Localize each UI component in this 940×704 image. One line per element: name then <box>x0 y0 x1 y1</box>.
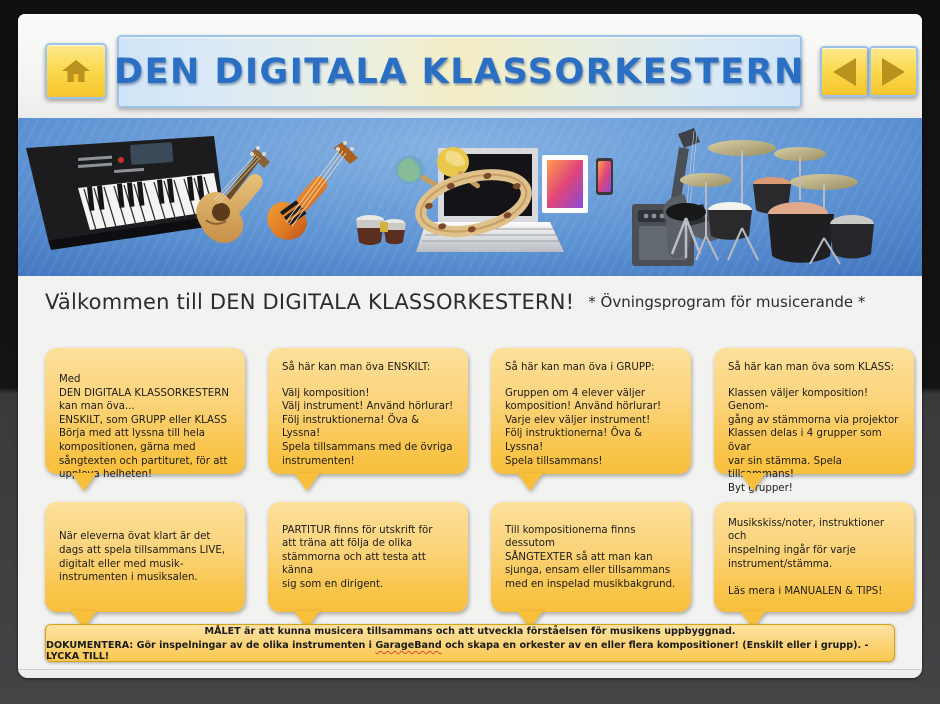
page-surface: DEN DIGITALA KLASSORKESTERN <box>18 14 922 678</box>
bubble-intro: Med DEN DIGITALA KLASSORKESTERN kan man … <box>45 348 245 474</box>
keyboard-photo <box>26 136 226 250</box>
triangle-right-icon <box>882 58 905 86</box>
page-title: DEN DIGITALA KLASSORKESTERN <box>114 52 805 92</box>
welcome-subtitle: * Övningsprogram för musicerande * <box>588 293 865 311</box>
goal-line-2-pre: DOKUMENTERA: Gör inspelningar av de olik… <box>46 640 375 651</box>
bubble-body: Med DEN DIGITALA KLASSORKESTERN kan man … <box>59 373 233 482</box>
goal-line-2: DOKUMENTERA: Gör inspelningar av de olik… <box>46 640 894 662</box>
bubble-heading: Så här kan man öva i GRUPP: <box>505 361 679 375</box>
previous-button[interactable] <box>820 46 869 97</box>
garageband-mention: GarageBand <box>375 640 441 651</box>
welcome-title: Välkommen till DEN DIGITALA KLASSORKESTE… <box>45 290 574 314</box>
bubble-body: Till kompositionerna finns dessutom SÅNG… <box>505 524 679 592</box>
bubble-manual: Musikskiss/noter, instruktioner och insp… <box>714 502 914 612</box>
footer-bar: Art.nr.: 99666 DEN DIGITALA KLASSORKESTE… <box>18 669 922 678</box>
bubble-partitur: PARTITUR finns för utskrift för att trän… <box>268 502 468 612</box>
next-button[interactable] <box>869 46 918 97</box>
goal-line-1: MÅLET är att kunna musicera tillsammans … <box>205 626 736 637</box>
welcome-row: Välkommen till DEN DIGITALA KLASSORKESTE… <box>18 276 922 328</box>
phone-photo <box>596 158 613 195</box>
bongo-drums-photo <box>356 215 406 245</box>
application-frame: DEN DIGITALA KLASSORKESTERN <box>0 0 940 704</box>
header-bar: DEN DIGITALA KLASSORKESTERN <box>18 14 922 118</box>
bubble-klass: Så här kan man öva som KLASS: Klassen vä… <box>714 348 914 474</box>
instrument-illustrations <box>18 118 922 276</box>
tablet-photo <box>542 155 588 213</box>
goal-banner: MÅLET är att kunna musicera tillsammans … <box>45 624 895 662</box>
bubble-grupp: Så här kan man öva i GRUPP: Gruppen om 4… <box>491 348 691 474</box>
bubble-body: Gruppen om 4 elever väljer komposition! … <box>505 387 679 469</box>
bubble-body: PARTITUR finns för utskrift för att trän… <box>282 524 456 592</box>
drum-kit-photo <box>666 140 874 264</box>
bubble-tail <box>517 473 543 491</box>
bubble-enskilt: Så här kan man öva ENSKILT: Välj komposi… <box>268 348 468 474</box>
info-bubble-grid: Med DEN DIGITALA KLASSORKESTERN kan man … <box>18 326 922 622</box>
triangle-left-icon <box>833 58 856 86</box>
bubble-sangtexter: Till kompositionerna finns dessutom SÅNG… <box>491 502 691 612</box>
bubble-body: När eleverna övat klart är det dags att … <box>59 530 225 584</box>
instrument-photo-banner <box>18 118 922 276</box>
bubble-heading: Så här kan man öva som KLASS: <box>728 361 902 375</box>
bubble-tail <box>294 473 320 491</box>
bubble-tail <box>740 473 766 491</box>
bubble-body: Musikskiss/noter, instruktioner och insp… <box>728 517 902 599</box>
bubble-body: Välj komposition! Välj instrument! Använ… <box>282 387 456 469</box>
title-plate: DEN DIGITALA KLASSORKESTERN <box>117 35 802 108</box>
bubble-heading: Så här kan man öva ENSKILT: <box>282 361 456 375</box>
bass-guitar-photo <box>267 141 410 276</box>
bubble-live: När eleverna övat klart är det dags att … <box>45 502 245 612</box>
home-button[interactable] <box>45 43 107 99</box>
bubble-tail <box>71 473 97 491</box>
house-icon <box>61 58 91 84</box>
